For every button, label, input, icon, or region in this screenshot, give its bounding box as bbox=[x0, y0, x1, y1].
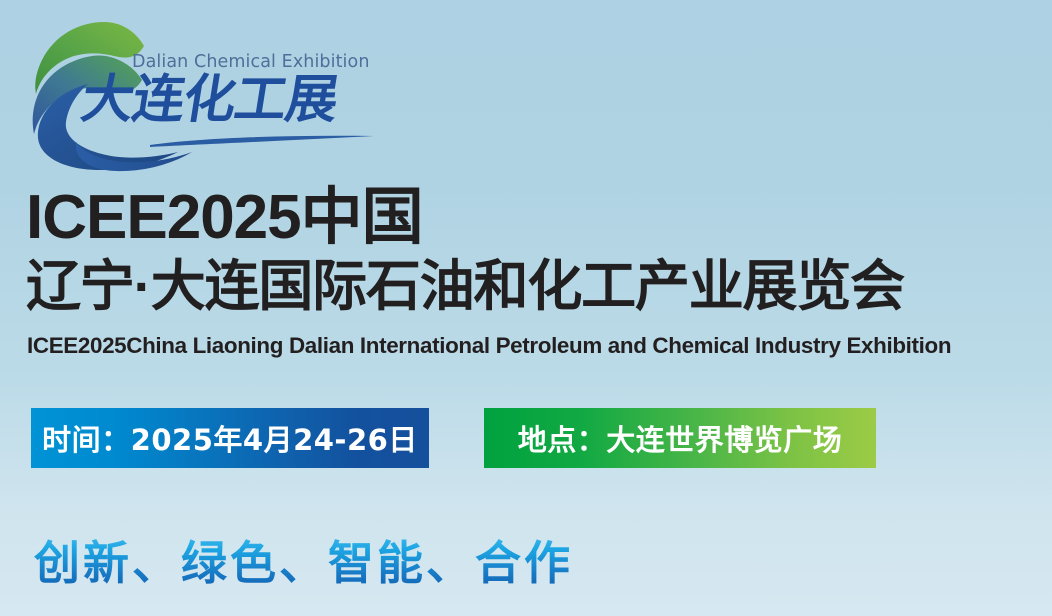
page-title-english: ICEE2025China Liaoning Dalian Internatio… bbox=[27, 333, 951, 359]
logo-chinese-name: 大连化工展 bbox=[78, 74, 346, 126]
page-title-line1: ICEE2025中国 bbox=[26, 187, 423, 249]
venue-badge: 地点：大连世界博览广场 bbox=[484, 408, 876, 468]
logo-underline-stroke bbox=[148, 134, 378, 150]
page-title-line2: 辽宁·大连国际石油和化工产业展览会 bbox=[26, 259, 904, 314]
logo-block: Dalian Chemical Exhibition 大连化工展 bbox=[26, 12, 336, 172]
date-badge: 时间：2025年4月24-26日 bbox=[31, 408, 429, 468]
logo-chinese-name-wrap: 大连化工展 bbox=[82, 74, 342, 152]
exhibition-poster: Dalian Chemical Exhibition 大连化工展 ICEE202… bbox=[0, 0, 1052, 616]
slogan-text: 创新、绿色、智能、合作 bbox=[34, 527, 573, 593]
logo-english-tagline: Dalian Chemical Exhibition bbox=[132, 52, 370, 72]
